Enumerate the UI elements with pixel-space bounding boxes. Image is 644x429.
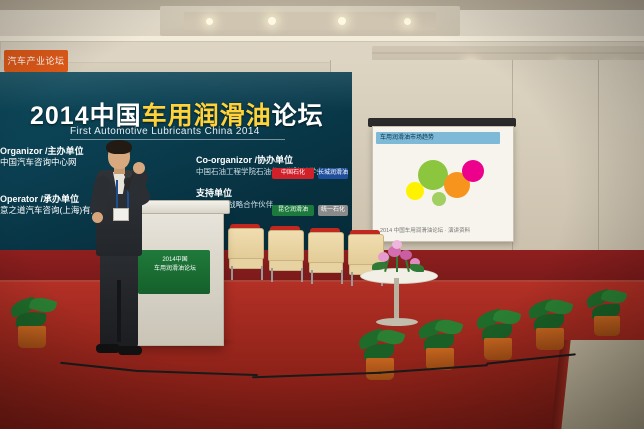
banner-subtitle: First Automotive Lubricants China 2014 [70, 126, 260, 137]
slide-bubble-pink [462, 160, 484, 182]
organizer-line-1: 中国汽车咨询中心网 [0, 157, 84, 168]
chair-back [228, 228, 264, 260]
organizer-label: Organizor /主办单位 [0, 146, 84, 157]
support-label: 支持单位 [196, 188, 273, 199]
side-table-base [376, 318, 418, 326]
flower-bloom [400, 250, 412, 260]
ceiling-light [268, 17, 276, 25]
chair-back [308, 232, 344, 264]
slide-caption: 2014 中国车用润滑油论坛 · 演讲资料 [380, 226, 500, 234]
stage-chair [228, 228, 262, 280]
banner-block-organizer: Organizor /主办单位 中国汽车咨询中心网 [0, 146, 84, 168]
chair-legs [231, 266, 263, 280]
sponsor-badge: 长城润滑油 [318, 168, 348, 179]
sponsor-badge: 中国石化 [272, 168, 314, 179]
forum-logo: 汽车产业论坛 [4, 50, 68, 72]
ceiling-reveal [372, 52, 644, 54]
sponsor-badge: 昆仑润滑油 [272, 205, 314, 216]
speaker-leg-gap [117, 280, 121, 342]
stage-chair [308, 232, 342, 284]
ceiling-recess-inner [184, 12, 436, 30]
plant-pot [594, 316, 620, 336]
flower-bloom [392, 240, 402, 249]
podium-sign-line-1: 2014中国 [140, 256, 210, 265]
chair-back [268, 230, 304, 262]
plant-pot [18, 326, 46, 348]
chair-legs [271, 268, 303, 282]
speaker-left-hand [92, 212, 103, 223]
microphone-head [124, 170, 132, 178]
ceiling-light [338, 17, 346, 25]
chair-legs [311, 270, 343, 284]
banner-title-suffix: 论坛 [272, 102, 324, 130]
sponsor-badge: 统一石化 [318, 205, 348, 216]
speaker-shoe [96, 344, 120, 353]
slide-header: 车用润滑油市场趋势 [376, 132, 500, 144]
coorganizer-label: Co-organizor /协办单位 [196, 155, 324, 166]
banner-divider [70, 139, 285, 140]
speaker-hair [106, 140, 132, 154]
speaker-right-hand [133, 162, 145, 174]
ceiling-light [404, 18, 411, 25]
plant-pot [484, 338, 512, 360]
speaker-shoe [118, 346, 142, 355]
side-table-leg [394, 278, 399, 322]
speaker-badge [113, 208, 129, 221]
ceiling-light [206, 18, 213, 25]
podium-sign-text: 2014中国 车用润滑油论坛 [140, 256, 210, 274]
plant-pot [366, 358, 394, 380]
flower-foliage [410, 264, 424, 272]
conference-photo: 汽车产业论坛 2014中国车用润滑油论坛 First Automotive Lu… [0, 0, 644, 429]
slide-bubble-green-small [432, 192, 446, 206]
slide-bubble-yellow [406, 182, 424, 200]
stage-chair [268, 230, 302, 282]
podium-sign-line-2: 车用润滑油论坛 [140, 265, 210, 274]
plant-pot [536, 328, 564, 350]
side-table-top [360, 268, 438, 284]
flower-bloom [378, 252, 389, 262]
